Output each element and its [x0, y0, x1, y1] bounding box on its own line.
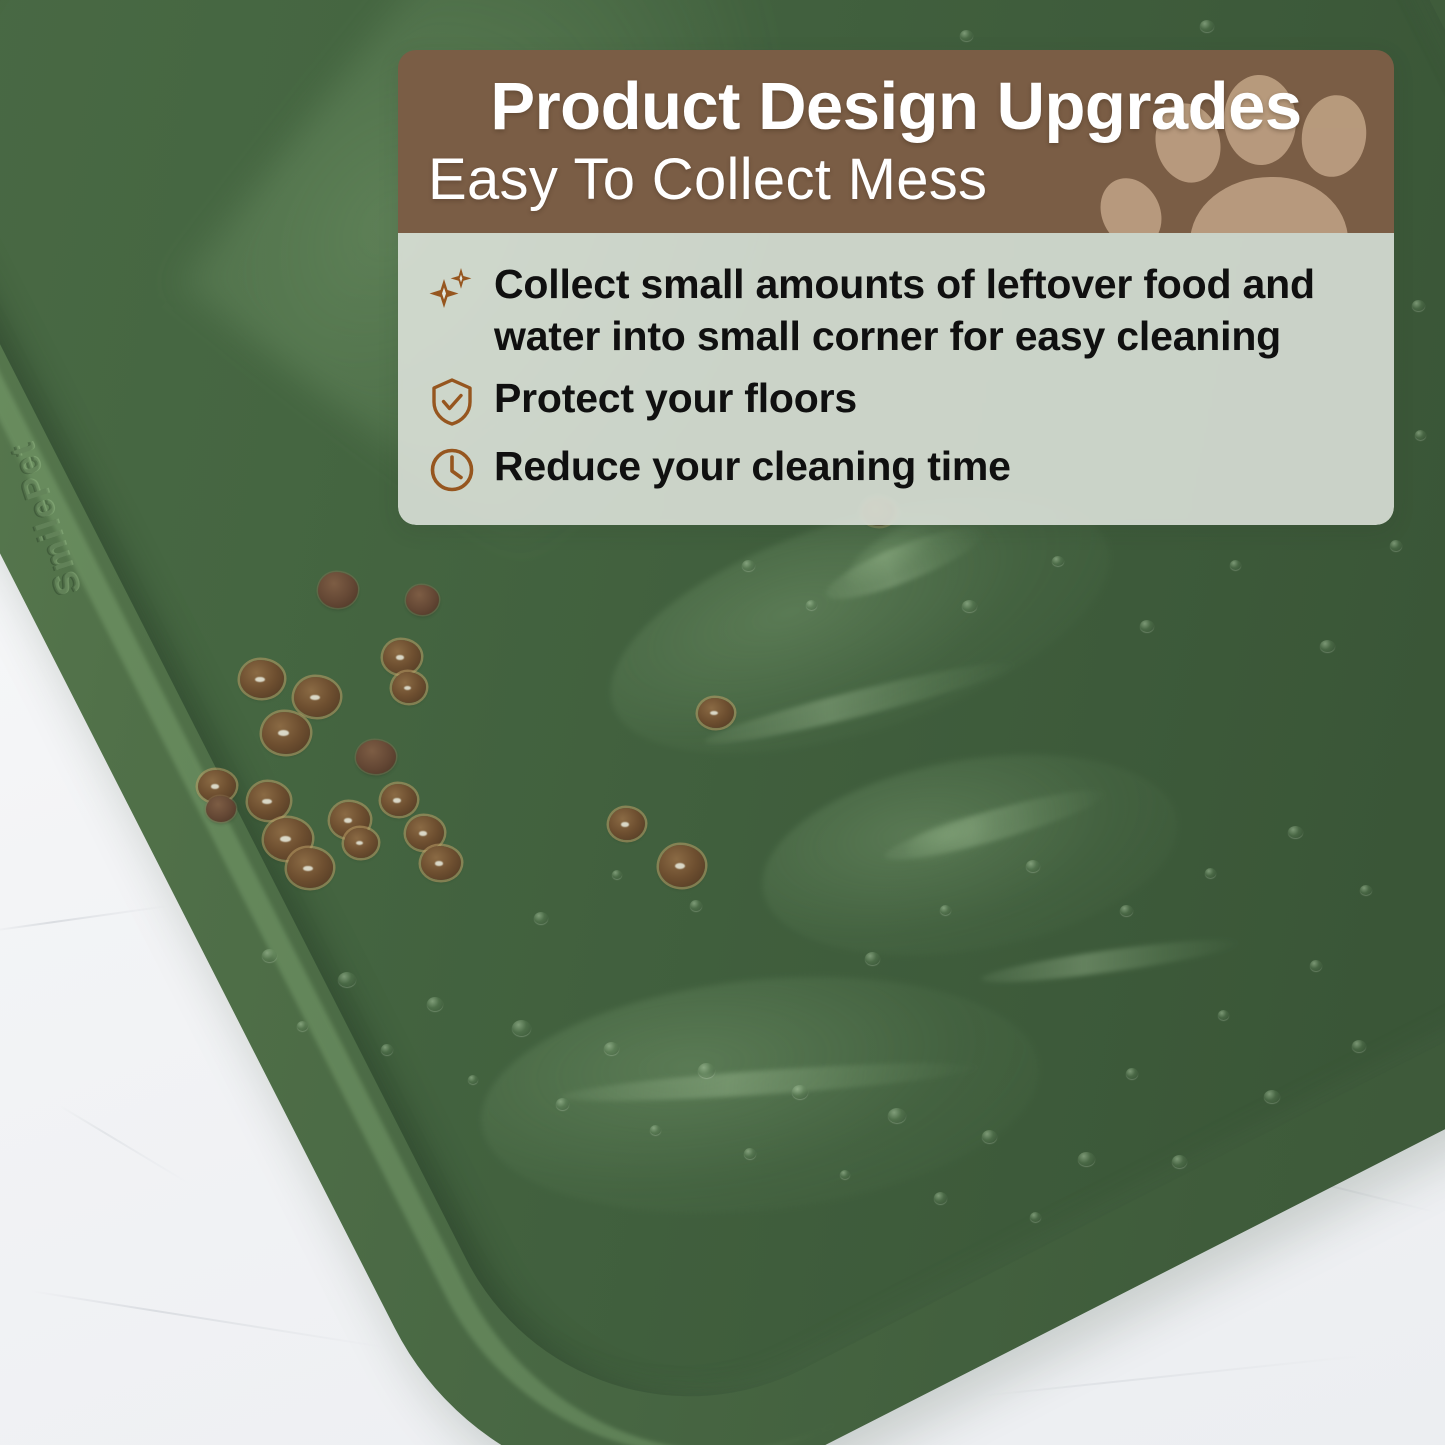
panel-body: Collect small amounts of leftover food a… [398, 233, 1394, 524]
shield-check-icon [428, 373, 476, 431]
clock-icon [428, 441, 476, 499]
panel-header: Product Design Upgrades Easy To Collect … [398, 50, 1394, 233]
feature-text: Protect your floors [494, 373, 857, 425]
sparkle-icon [428, 259, 476, 323]
panel-title: Product Design Upgrades [428, 72, 1364, 142]
panel-subtitle: Easy To Collect Mess [428, 148, 1364, 213]
feature-item-protect: Protect your floors [428, 373, 1368, 431]
feature-text: Reduce your cleaning time [494, 441, 1011, 493]
info-panel: Product Design Upgrades Easy To Collect … [398, 50, 1394, 525]
product-marketing-image: SmilePet [0, 0, 1445, 1445]
feature-item-collect: Collect small amounts of leftover food a… [428, 259, 1368, 362]
feature-text: Collect small amounts of leftover food a… [494, 259, 1368, 362]
feature-item-reduce-time: Reduce your cleaning time [428, 441, 1368, 499]
